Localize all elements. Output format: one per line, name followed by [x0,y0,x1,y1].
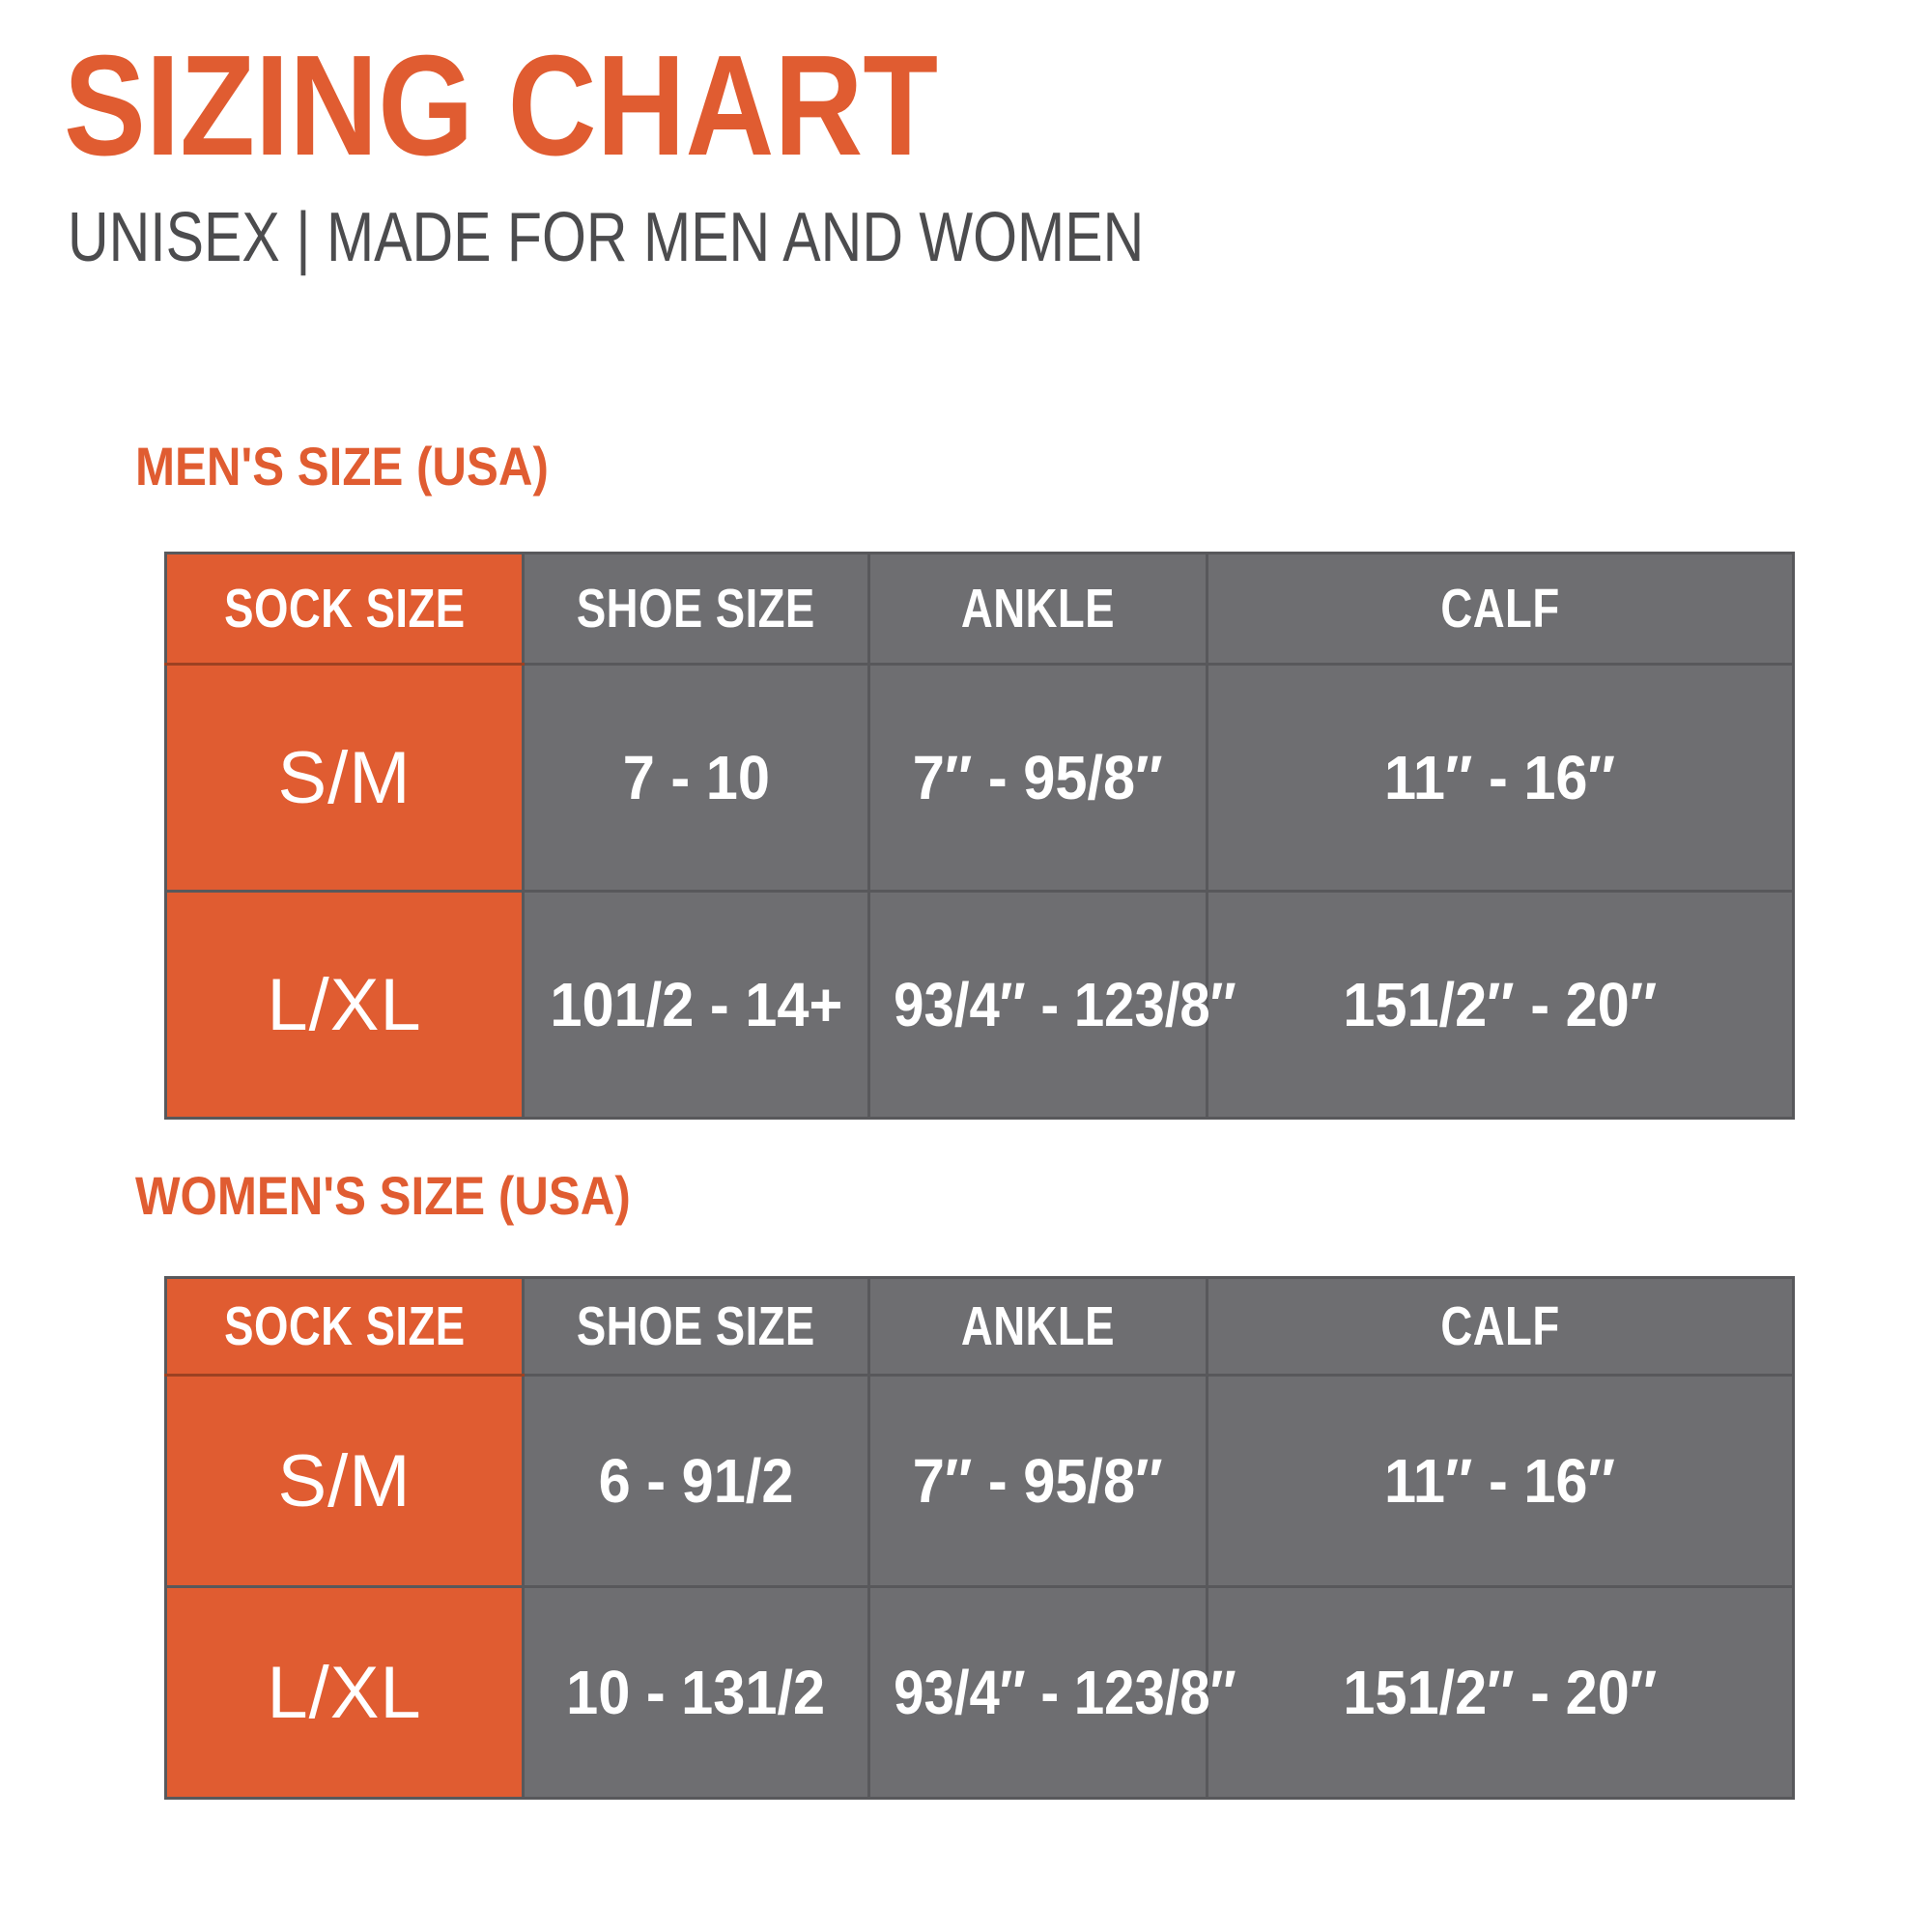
cell-shoe-size: 10 - 131/2 [524,1587,869,1799]
table-row: S/M 6 - 91/2 7″ - 95/8″ 11″ - 16″ [166,1376,1794,1587]
section-title-womens: WOMEN'S SIZE (USA) [135,1169,631,1223]
cell-ankle: 93/4″ - 123/8″ [869,892,1207,1119]
table-row: L/XL 101/2 - 14+ 93/4″ - 123/8″ 151/2″ -… [166,892,1794,1119]
cell-ankle: 7″ - 95/8″ [869,665,1207,892]
table-header-row: SOCK SIZE SHOE SIZE ANKLE CALF [166,554,1794,665]
column-header-sock-size: SOCK SIZE [166,1278,524,1376]
column-header-shoe-size: SHOE SIZE [524,1278,869,1376]
column-header-sock-size: SOCK SIZE [166,554,524,665]
page-title: SIZING CHART [64,35,938,178]
cell-shoe-size: 6 - 91/2 [524,1376,869,1587]
table-header-row: SOCK SIZE SHOE SIZE ANKLE CALF [166,1278,1794,1376]
cell-sock-size: L/XL [166,892,524,1119]
column-header-calf: CALF [1207,554,1794,665]
column-header-ankle: ANKLE [869,1278,1207,1376]
page-subtitle: UNISEX | MADE FOR MEN AND WOMEN [68,203,1144,272]
cell-ankle: 7″ - 95/8″ [869,1376,1207,1587]
cell-shoe-size: 7 - 10 [524,665,869,892]
section-title-mens: MEN'S SIZE (USA) [135,440,549,494]
mens-sizing-table: SOCK SIZE SHOE SIZE ANKLE CALF S/M 7 - 1… [164,552,1795,1120]
sizing-chart-page: SIZING CHART UNISEX | MADE FOR MEN AND W… [0,0,1932,1932]
cell-calf: 151/2″ - 20″ [1207,892,1794,1119]
cell-calf: 11″ - 16″ [1207,665,1794,892]
cell-calf: 11″ - 16″ [1207,1376,1794,1587]
cell-sock-size: S/M [166,1376,524,1587]
cell-ankle: 93/4″ - 123/8″ [869,1587,1207,1799]
cell-shoe-size: 101/2 - 14+ [524,892,869,1119]
cell-calf: 151/2″ - 20″ [1207,1587,1794,1799]
cell-sock-size: S/M [166,665,524,892]
column-header-calf: CALF [1207,1278,1794,1376]
womens-sizing-table: SOCK SIZE SHOE SIZE ANKLE CALF S/M 6 - 9… [164,1276,1795,1800]
cell-sock-size: L/XL [166,1587,524,1799]
column-header-ankle: ANKLE [869,554,1207,665]
table-row: S/M 7 - 10 7″ - 95/8″ 11″ - 16″ [166,665,1794,892]
table-row: L/XL 10 - 131/2 93/4″ - 123/8″ 151/2″ - … [166,1587,1794,1799]
column-header-shoe-size: SHOE SIZE [524,554,869,665]
